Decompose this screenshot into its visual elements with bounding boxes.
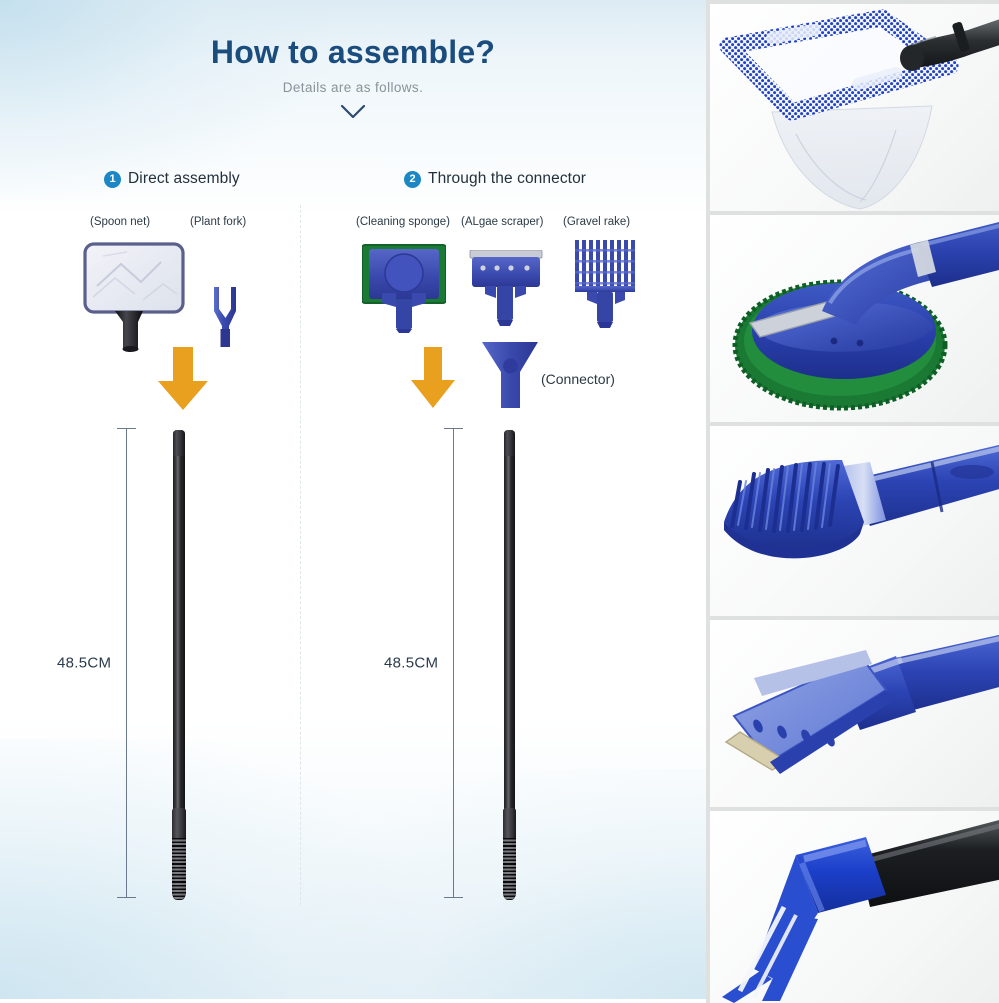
algae-scraper-icon [469, 250, 543, 326]
caption-cleaning-sponge: (Cleaning sponge) [356, 216, 450, 228]
photo-algae-scraper [706, 616, 999, 811]
measure-vline-1 [126, 428, 127, 898]
spoon-net-icon [83, 242, 189, 352]
section-badge-1: 1 [104, 171, 121, 188]
connector-icon [480, 340, 540, 408]
section-divider [300, 205, 301, 905]
caption-spoon-net: (Spoon net) [90, 216, 150, 228]
measure-tick-top-2 [444, 428, 463, 429]
chevron-down-icon [0, 103, 706, 121]
caption-connector: (Connector) [541, 371, 615, 387]
photo-plant-fork [706, 807, 999, 1003]
cleaning-sponge-icon [362, 243, 446, 333]
arrow-down-icon-2 [408, 347, 458, 414]
caption-algae-scraper: (ALgae scraper) [461, 216, 543, 228]
measure-tick-bottom-1 [117, 897, 136, 898]
caption-plant-fork: (Plant fork) [190, 216, 246, 228]
plant-fork-icon [210, 285, 240, 347]
arrow-down-icon-1 [155, 347, 211, 416]
photo-gravel-rake [706, 422, 999, 620]
measure-tick-bottom-2 [444, 897, 463, 898]
measure-label-1: 48.5CM [57, 655, 111, 672]
photo-fish-net [706, 0, 999, 215]
extension-rod-icon-2 [504, 430, 515, 900]
extension-rod-icon-1 [173, 430, 185, 900]
measure-vline-2 [453, 428, 454, 898]
product-photo-strip [706, 0, 999, 999]
background-tint-bottom-right [286, 769, 706, 999]
section-badge-2: 2 [404, 171, 421, 188]
photo-cleaning-sponge [706, 211, 999, 426]
page-title: How to assemble? [0, 34, 706, 71]
product-instruction-image: How to assemble? Details are as follows.… [0, 0, 999, 999]
section-title-1: Direct assembly [128, 170, 240, 188]
measure-line-2: 48.5CM [444, 428, 463, 898]
header: How to assemble? Details are as follows. [0, 34, 706, 121]
caption-gravel-rake: (Gravel rake) [563, 216, 630, 228]
section-heading-through-connector: 2 Through the connector [404, 170, 586, 188]
measure-label-2: 48.5CM [384, 655, 438, 672]
section-heading-direct-assembly: 1 Direct assembly [104, 170, 240, 188]
assembly-instructions-panel: How to assemble? Details are as follows.… [0, 0, 706, 999]
measure-line-1: 48.5CM [117, 428, 136, 898]
gravel-rake-icon [573, 240, 639, 328]
page-subtitle: Details are as follows. [0, 80, 706, 95]
measure-tick-top-1 [117, 428, 136, 429]
section-title-2: Through the connector [428, 170, 586, 188]
